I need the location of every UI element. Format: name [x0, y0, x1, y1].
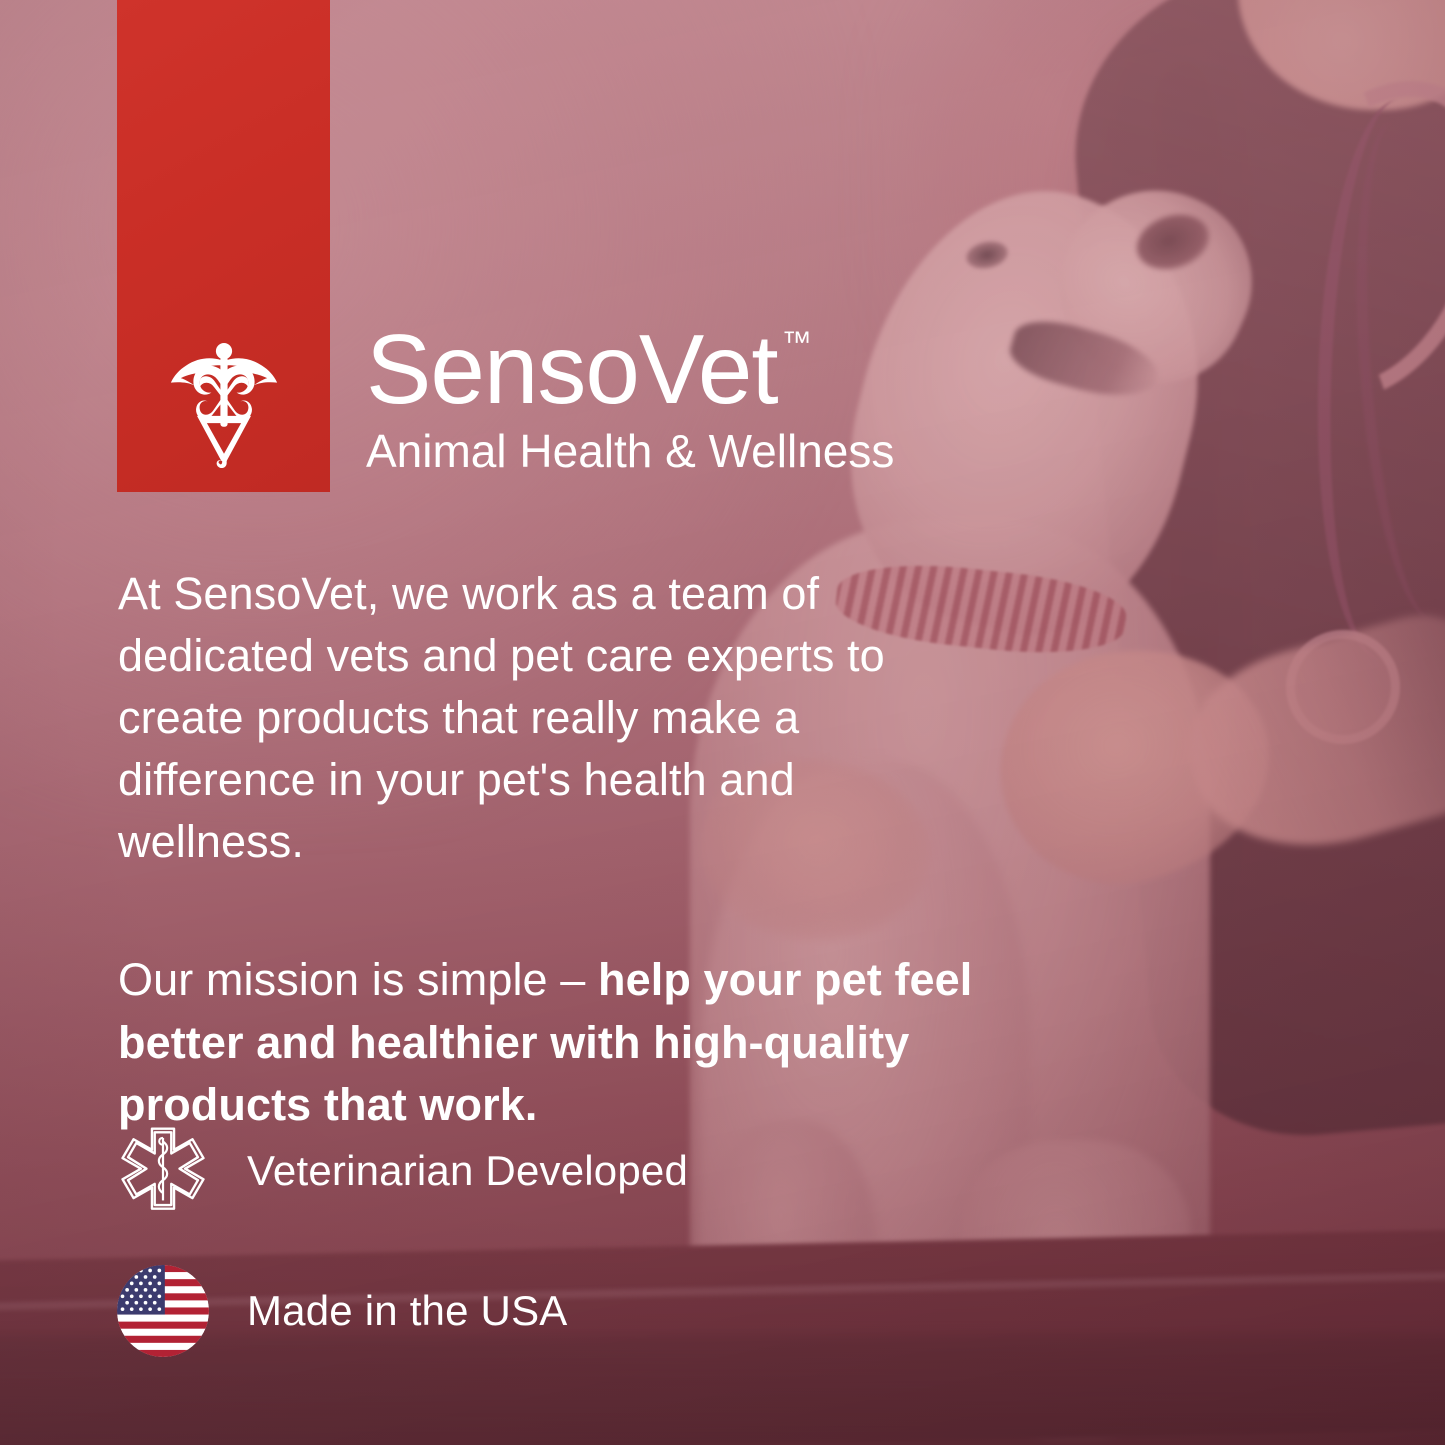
star-of-life-icon — [115, 1123, 211, 1219]
content-layer: SensoVet ™ Animal Health & Wellness At S… — [0, 0, 1445, 1445]
body-copy: At SensoVet, we work as a team of dedica… — [118, 563, 978, 1136]
brand-tagline: Animal Health & Wellness — [366, 426, 1006, 477]
feature-row: Veterinarian Developed — [115, 1112, 815, 1230]
feature-badges: Veterinarian Developed — [115, 1112, 815, 1370]
feature-label: Made in the USA — [247, 1290, 568, 1332]
brand-name-line: SensoVet ™ — [366, 320, 1006, 420]
feature-label: Veterinarian Developed — [247, 1150, 688, 1192]
promotional-graphic: SensoVet ™ Animal Health & Wellness At S… — [0, 0, 1445, 1445]
mission-lead: Our mission is simple – — [118, 954, 598, 1005]
intro-paragraph: At SensoVet, we work as a team of dedica… — [118, 563, 978, 873]
usa-flag-icon — [115, 1263, 211, 1359]
feature-row: Made in the USA — [115, 1252, 815, 1370]
logo-banner — [117, 0, 330, 492]
brand-name: SensoVet — [366, 320, 778, 420]
mission-paragraph: Our mission is simple – help your pet fe… — [118, 949, 978, 1135]
trademark-symbol: ™ — [782, 328, 813, 358]
veterinary-caduceus-icon — [170, 342, 278, 470]
brand-wordmark: SensoVet ™ Animal Health & Wellness — [366, 320, 1006, 477]
